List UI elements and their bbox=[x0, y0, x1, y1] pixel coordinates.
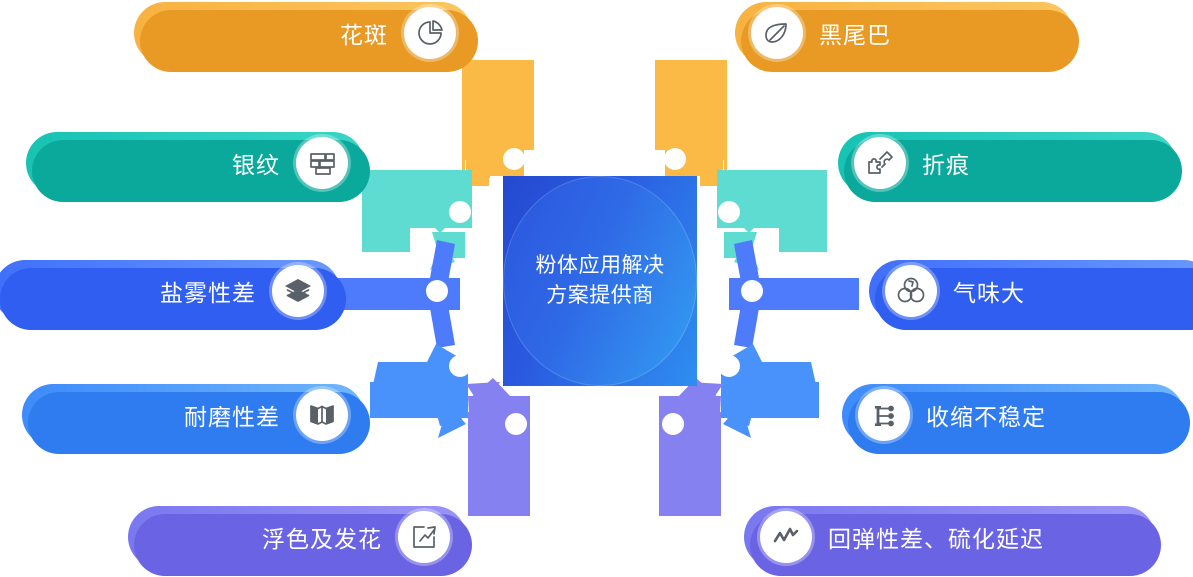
node-pill-yanwuxingcha[interactable]: 盐雾性差 bbox=[0, 260, 340, 322]
sitemap-icon bbox=[858, 389, 910, 441]
pill-label: 折痕 bbox=[922, 146, 970, 180]
node-pill-heiweiba[interactable]: 黑尾巴 bbox=[735, 2, 1073, 64]
pie-chart-icon bbox=[404, 7, 456, 59]
open-book-icon bbox=[296, 389, 348, 441]
puzzle-icon bbox=[854, 137, 906, 189]
pill-label: 回弹性差、硫化延迟 bbox=[828, 520, 1044, 554]
pill-label: 花斑 bbox=[340, 16, 388, 50]
node-pill-huaban[interactable]: 花斑 bbox=[134, 2, 472, 64]
connector-row3-left bbox=[330, 240, 460, 348]
connector-row2-left bbox=[362, 170, 472, 270]
leaf-icon bbox=[751, 7, 803, 59]
center-hub-title: 粉体应用解决 方案提供商 bbox=[503, 176, 697, 386]
connector-row1-right bbox=[655, 60, 729, 186]
connector-row2-right bbox=[717, 170, 827, 270]
node-pill-qiweida[interactable]: 气味大 bbox=[869, 260, 1193, 322]
pill-label: 浮色及发花 bbox=[262, 520, 382, 554]
recycle-icon bbox=[885, 265, 937, 317]
node-pill-yinwen[interactable]: 银纹 bbox=[26, 132, 364, 194]
connector-row1-left bbox=[460, 60, 534, 186]
connector-row4-left bbox=[370, 344, 471, 438]
node-pill-zhehen[interactable]: 折痕 bbox=[838, 132, 1176, 194]
node-pill-shousuobuwending[interactable]: 收缩不稳定 bbox=[842, 384, 1184, 446]
connector-row5-left bbox=[466, 378, 530, 516]
pill-label: 银纹 bbox=[232, 146, 280, 180]
line-chart-icon bbox=[760, 511, 812, 563]
node-pill-huitanxingcha[interactable]: 回弹性差、硫化延迟 bbox=[744, 506, 1155, 568]
brick-wall-icon bbox=[296, 137, 348, 189]
node-pill-naimoxingcha[interactable]: 耐磨性差 bbox=[22, 384, 364, 446]
layers-icon bbox=[272, 265, 324, 317]
trend-up-icon bbox=[398, 511, 450, 563]
pill-label: 收缩不稳定 bbox=[926, 398, 1046, 432]
pill-label: 黑尾巴 bbox=[819, 16, 891, 50]
pill-label: 耐磨性差 bbox=[184, 398, 280, 432]
pill-label: 盐雾性差 bbox=[160, 274, 256, 308]
pill-label: 气味大 bbox=[953, 274, 1025, 308]
node-pill-fusejifahua[interactable]: 浮色及发花 bbox=[128, 506, 466, 568]
connector-row5-right bbox=[659, 378, 723, 516]
connector-row4-right bbox=[718, 344, 819, 438]
infographic-canvas: 粉体应用解决 方案提供商 花斑 黑尾巴 银纹 bbox=[0, 0, 1193, 577]
connector-row3-right bbox=[729, 240, 859, 348]
center-hub: 粉体应用解决 方案提供商 bbox=[503, 176, 697, 386]
